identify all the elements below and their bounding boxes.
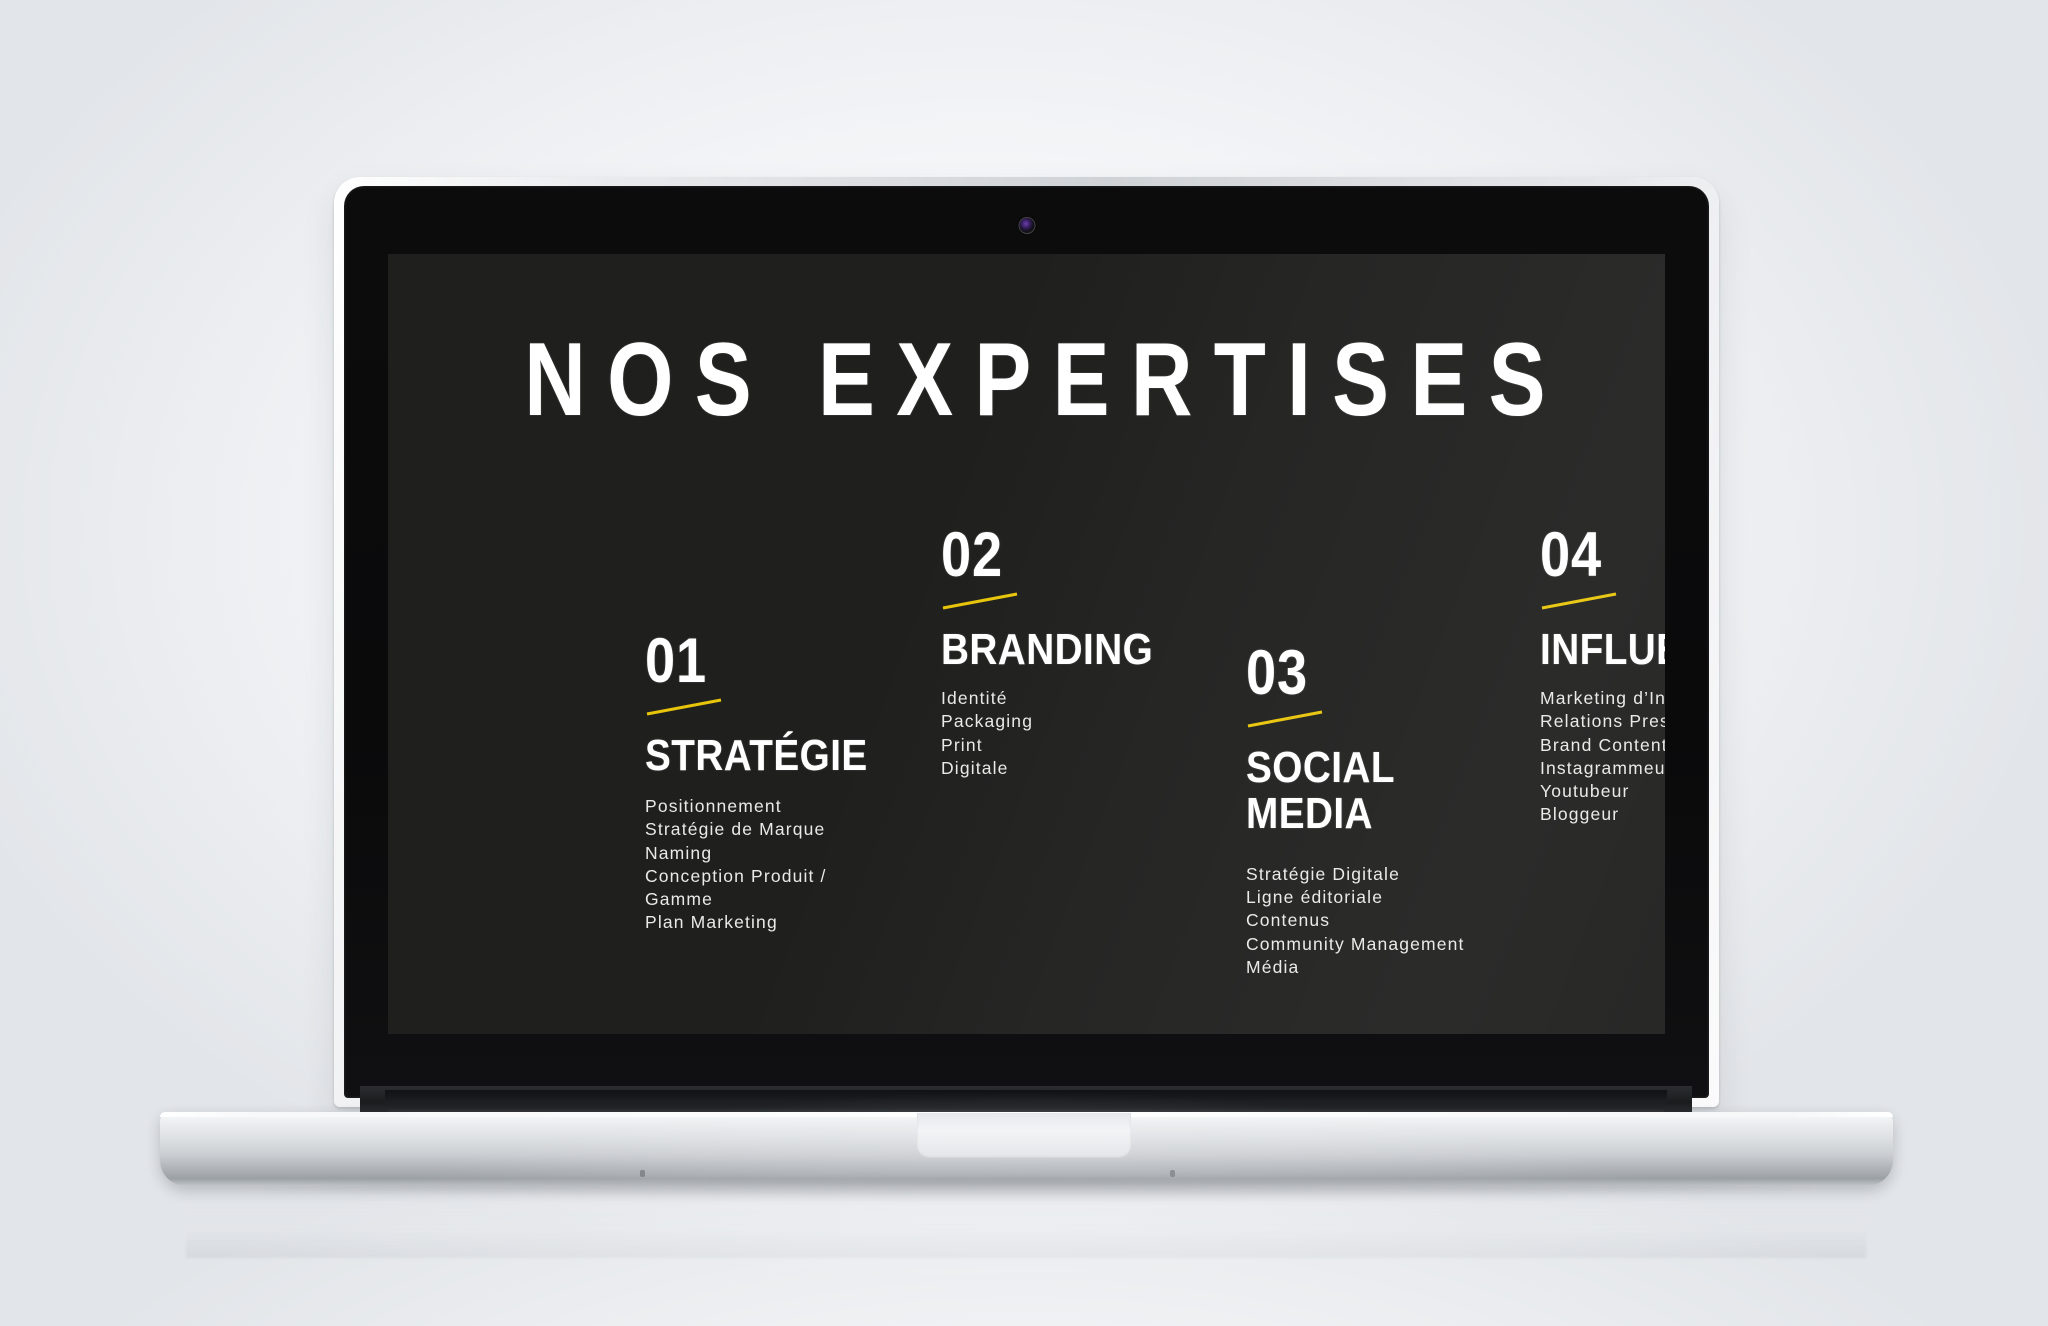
laptop-mockup: NOS EXPERTISES 01 STRATÉGIE Positionneme… (0, 0, 2048, 1326)
column-heading: SOCIAL MEDIA (1246, 745, 1484, 837)
list-item: Brand Content (1540, 734, 1665, 757)
column-item-list: Marketing d’Influence Relations Presse B… (1540, 687, 1665, 827)
column-item-list: Positionnement Stratégie de Marque Namin… (645, 795, 885, 935)
accent-rule-icon (645, 697, 723, 717)
accent-rule-icon (1246, 709, 1324, 729)
laptop-screen-glass: NOS EXPERTISES 01 STRATÉGIE Positionneme… (344, 186, 1709, 1098)
list-item: Positionnement (645, 795, 885, 818)
presentation-slide: NOS EXPERTISES 01 STRATÉGIE Positionneme… (388, 254, 1665, 1034)
list-item: Bloggeur (1540, 803, 1665, 826)
column-number: 02 (941, 526, 1130, 585)
list-item: Stratégie de Marque (645, 818, 885, 841)
list-item: Naming (645, 842, 885, 865)
list-item: Marketing d’Influence (1540, 687, 1665, 710)
list-item: Gamme (645, 888, 885, 911)
list-item: Identité (941, 687, 1161, 710)
list-item: Community Management (1246, 933, 1516, 956)
expertise-column-04: 04 INFLUENCE Marketing d’Influence Relat… (1540, 526, 1665, 827)
column-number: 04 (1540, 526, 1665, 585)
expertise-column-01: 01 STRATÉGIE Positionnement Stratégie de… (645, 632, 885, 935)
list-item: Packaging (941, 710, 1161, 733)
list-item: Ligne éditoriale (1246, 886, 1516, 909)
list-item: Conception Produit / (645, 865, 885, 888)
accent-rule-icon (1540, 591, 1618, 611)
webcam-icon (1019, 218, 1034, 233)
expertise-columns: 01 STRATÉGIE Positionnement Stratégie de… (388, 254, 1665, 1034)
laptop-foot-right (1170, 1170, 1175, 1177)
laptop-foot-left (640, 1170, 645, 1177)
accent-rule-icon (941, 591, 1019, 611)
column-item-list: Stratégie Digitale Ligne éditoriale Cont… (1246, 863, 1516, 979)
column-item-list: Identité Packaging Print Digitale (941, 687, 1161, 780)
expertise-column-02: 02 BRANDING Identité Packaging Print Dig… (941, 526, 1161, 780)
laptop-base-notch (917, 1113, 1131, 1158)
list-item: Youtubeur (1540, 780, 1665, 803)
list-item: Print (941, 734, 1161, 757)
column-heading: STRATÉGIE (645, 733, 856, 779)
list-item: Plan Marketing (645, 911, 885, 934)
list-item: Stratégie Digitale (1246, 863, 1516, 886)
list-item: Digitale (941, 757, 1161, 780)
expertise-column-03: 03 SOCIAL MEDIA Stratégie Digitale Ligne… (1246, 644, 1516, 979)
studio-backdrop: NOS EXPERTISES 01 STRATÉGIE Positionneme… (0, 0, 2048, 1326)
laptop-surface-reflection (186, 1186, 1866, 1258)
list-item: Média (1246, 956, 1516, 979)
list-item: Instagrammeur (1540, 757, 1665, 780)
list-item: Contenus (1246, 909, 1516, 932)
list-item: Relations Presse (1540, 710, 1665, 733)
column-heading: INFLUENCE (1540, 627, 1665, 673)
column-heading: BRANDING (941, 627, 1135, 673)
column-number: 03 (1246, 644, 1478, 703)
column-number: 01 (645, 632, 851, 691)
